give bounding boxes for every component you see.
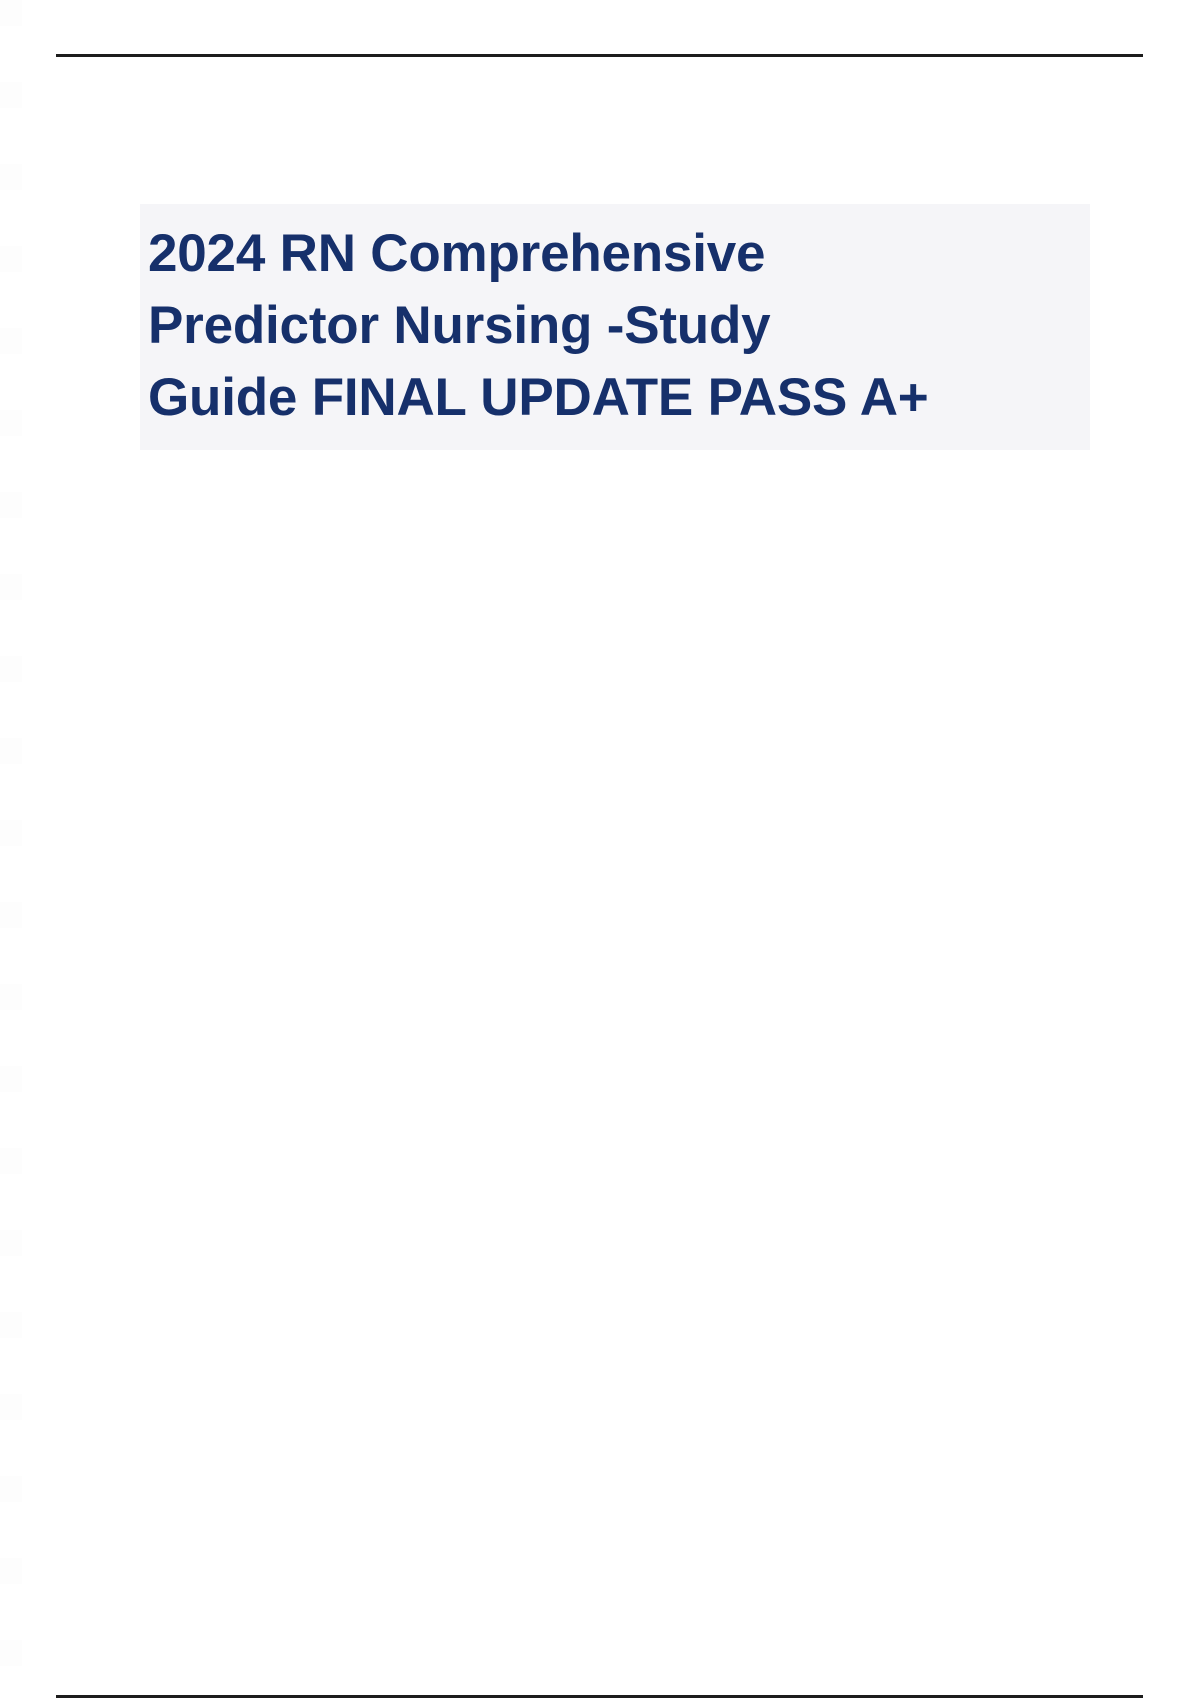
scan-edge-artifact — [0, 0, 22, 1700]
title-highlight-block: 2024 RN Comprehensive Predictor Nursing … — [140, 204, 1090, 450]
footer-rule — [56, 1695, 1143, 1698]
header-rule — [56, 54, 1143, 57]
document-page: 2024 RN Comprehensive Predictor Nursing … — [0, 0, 1200, 1700]
document-body — [140, 460, 1090, 1675]
page-title: 2024 RN Comprehensive Predictor Nursing … — [140, 204, 1090, 450]
